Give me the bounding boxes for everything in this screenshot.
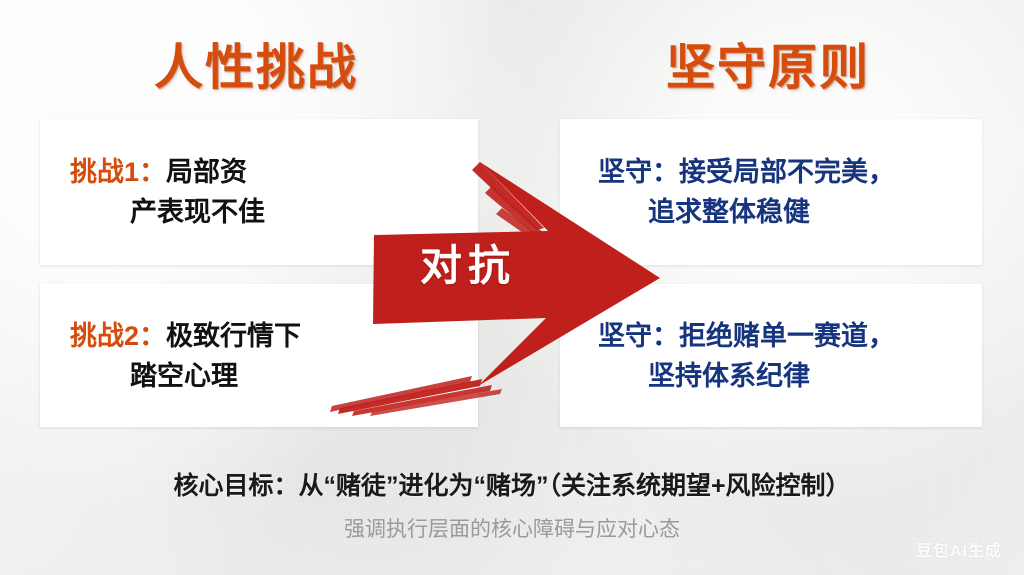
challenge-card-2-label: 挑战2：: [70, 321, 166, 351]
principle-card-1-text1: 接受局部不完美，: [679, 157, 895, 187]
challenge-card-1-text1: 局部资: [166, 157, 247, 187]
slide-canvas: 人性挑战 坚守原则 挑战1：局部资 产表现不佳 挑战2：极致行情下 踏空心理 坚…: [0, 0, 1024, 575]
principle-card-2-text1: 拒绝赌单一赛道，: [679, 321, 895, 351]
right-brush-arrow-icon: [330, 150, 690, 415]
confrontation-arrow: [330, 150, 690, 415]
subtitle-text: 强调执行层面的核心障碍与应对心态: [0, 513, 1024, 543]
watermark-label: 豆包AI生成: [916, 537, 1002, 561]
page-title-left: 人性挑战: [0, 28, 512, 99]
challenge-card-2-text1: 极致行情下: [166, 321, 301, 351]
core-goal-text: 核心目标：从“赌徒”进化为“赌场”（关注系统期望+风险控制）: [0, 466, 1024, 502]
challenge-card-1-label: 挑战1：: [70, 157, 166, 187]
page-title-right: 坚守原则: [512, 28, 1024, 99]
